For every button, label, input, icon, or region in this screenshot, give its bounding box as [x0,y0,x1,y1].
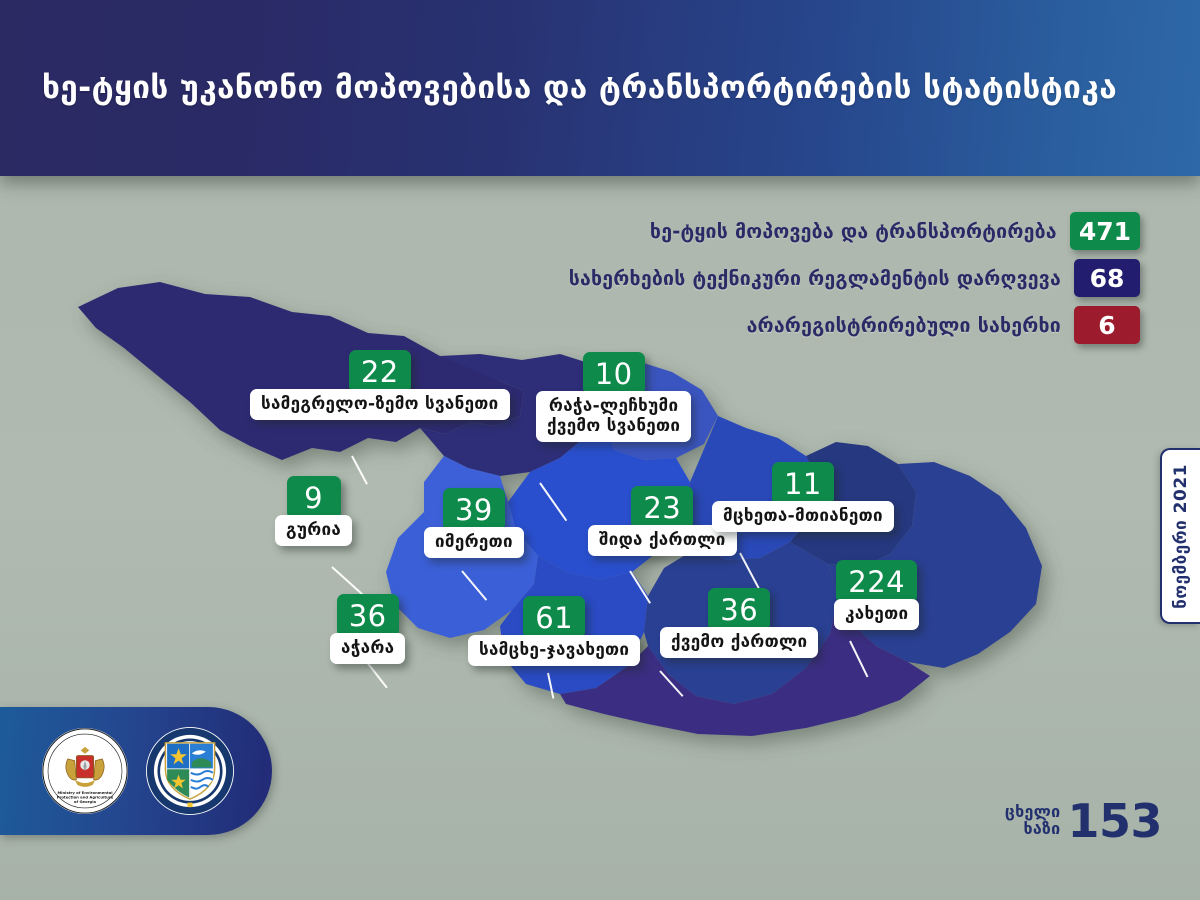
hotline-number: 153 [1067,801,1162,842]
marker-value-badge: 36 [337,594,399,637]
hotline: ცხელი ხაზი 153 [1005,801,1162,842]
marker-region-label: გურია [275,515,352,546]
legend-label: ხე-ტყის მოპოვება და ტრანსპორტირება [650,220,1057,243]
legend-row-unregistered-sawmill: არარეგისტრირებული სახერხი 6 [569,306,1140,344]
legend-row-sawmill-regulation: სახერხების ტექნიკური რეგლამენტის დარღვევ… [569,259,1140,297]
legend-value-badge: 471 [1070,212,1140,250]
header-banner: ხე-ტყის უკანონო მოპოვებისა და ტრანსპორტი… [0,0,1200,176]
map-marker-kakheti[interactable]: 224 კახეთი [834,560,919,630]
marker-value-badge: 61 [523,596,585,639]
marker-region-label: სამცხე-ჯავახეთი [468,635,640,666]
ministry-emblem-icon: Ministry of Environmental Protection and… [42,728,128,814]
map-marker-kvemo-kartli[interactable]: 36 ქვემო ქართლი [660,588,818,658]
marker-value-badge: 224 [836,560,917,603]
date-period-tab: ნოემბერი 2021 [1160,448,1200,624]
marker-value-badge: 36 [708,588,770,631]
marker-region-label: კახეთი [834,599,919,630]
supervision-department-emblem-icon [146,727,234,815]
marker-region-label: სამეგრელო-ზემო სვანეთი [250,389,510,420]
legend-label: არარეგისტრირებული სახერხი [747,314,1061,337]
logo-bar: Ministry of Environmental Protection and… [0,707,272,835]
marker-value-badge: 11 [772,462,834,505]
map-marker-samegrelo-zemo-svaneti[interactable]: 22 სამეგრელო-ზემო სვანეთი [250,350,510,420]
marker-region-label: ქვემო ქართლი [660,627,818,658]
page-title: ხე-ტყის უკანონო მოპოვებისა და ტრანსპორტი… [42,70,1117,106]
marker-value-badge: 22 [349,350,411,393]
legend-value-badge: 6 [1074,306,1140,344]
environmental-supervision-department-icon [146,727,234,815]
map-marker-mtskheta-mtianeti[interactable]: 11 მცხეთა-მთიანეთი [712,462,894,532]
marker-region-label: რაჭა-ლეჩხუმი ქვემო სვანეთი [536,391,691,442]
marker-region-label: აჭარა [330,633,405,664]
marker-region-label: მცხეთა-მთიანეთი [712,501,894,532]
map-marker-guria[interactable]: 9 გურია [275,476,352,546]
map-marker-samtskhe-javakheti[interactable]: 61 სამცხე-ჯავახეთი [468,596,640,666]
svg-text:of Georgia: of Georgia [74,799,97,804]
marker-value-badge: 10 [583,352,645,395]
legend-row-harvest-transport: ხე-ტყის მოპოვება და ტრანსპორტირება 471 [569,212,1140,250]
legend-label: სახერხების ტექნიკური რეგლამენტის დარღვევ… [569,267,1061,290]
hotline-words: ცხელი ხაზი [1005,804,1061,838]
marker-region-label: იმერეთი [424,527,524,558]
marker-value-badge: 23 [631,486,693,529]
map-marker-imereti[interactable]: 39 იმერეთი [424,488,524,558]
legend-value-badge: 68 [1074,259,1140,297]
hotline-word-line2: ხაზი [1005,821,1061,838]
ministry-coat-of-arms-icon: Ministry of Environmental Protection and… [42,728,128,814]
legend: ხე-ტყის მოპოვება და ტრანსპორტირება 471 ს… [569,212,1140,344]
marker-value-badge: 9 [287,476,341,519]
map-marker-adjara[interactable]: 36 აჭარა [330,594,405,664]
map-marker-racha-lechkhumi[interactable]: 10 რაჭა-ლეჩხუმი ქვემო სვანეთი [536,352,691,442]
marker-value-badge: 39 [443,488,505,531]
date-period-label: ნოემბერი 2021 [1171,464,1191,609]
